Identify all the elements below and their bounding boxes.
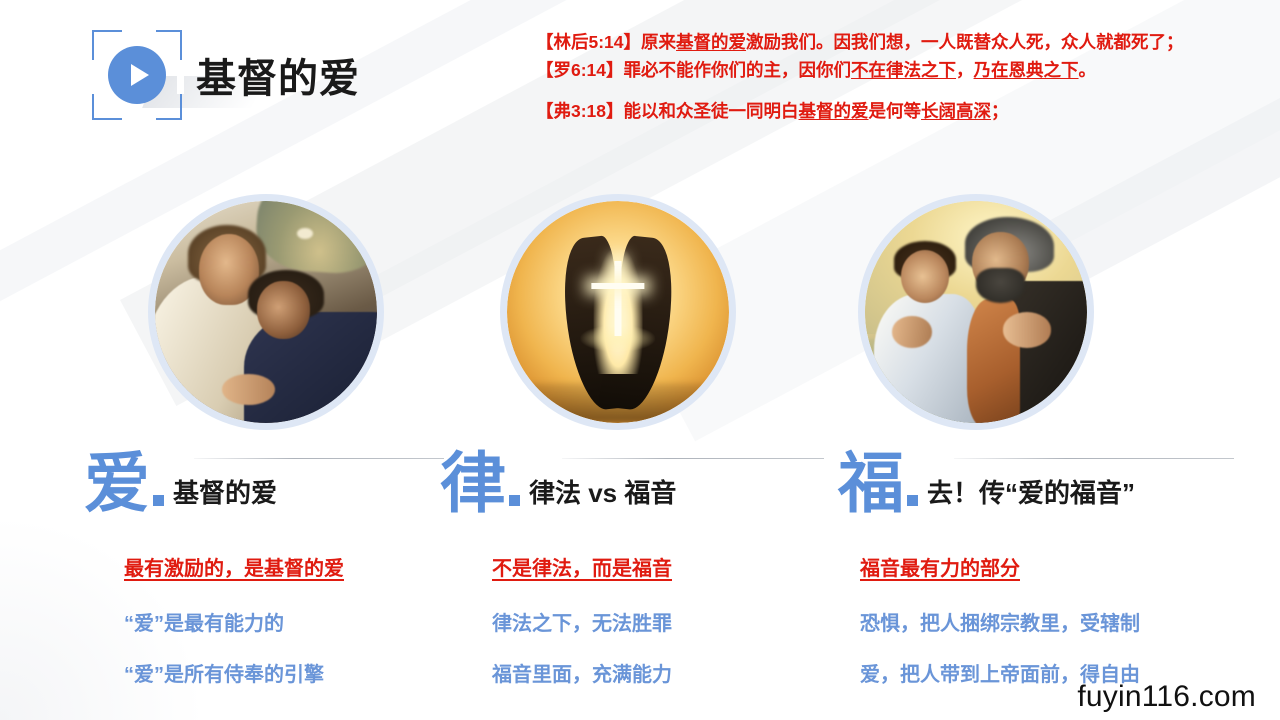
heading-row: 福 去！传“爱的福音” [838, 450, 1135, 516]
column-red-line: 不是律法，而是福音 [492, 552, 822, 581]
column-1-body: 最有激励的，是基督的爱 “爱”是最有能力的 “爱”是所有侍奉的引擎 [124, 552, 454, 709]
column-heading-label: 基督的爱 [173, 473, 277, 510]
page-title: 基督的爱 [196, 46, 360, 104]
column-heading-label: 去！传“爱的福音” [927, 473, 1135, 510]
square-bullet-icon [509, 495, 520, 506]
older-disciple-beard [976, 268, 1025, 304]
verse-emphasis: 乃在恩典之下 [974, 60, 1079, 80]
verse-emphasis: 长阔高深 [921, 101, 991, 121]
photo-content [865, 201, 1087, 423]
young-disciple-hands [892, 316, 932, 347]
verse-text: ， [956, 60, 974, 80]
heading-row: 爱 基督的爱 [84, 450, 277, 516]
column-2-body: 不是律法，而是福音 律法之下，无法胜罪 福音里面，充满能力 [492, 552, 822, 709]
logo-frame-notch [122, 28, 156, 35]
verse-emphasis: 基督的爱 [676, 32, 746, 52]
verse-text: 原来 [641, 32, 676, 52]
arch-gem [297, 228, 313, 239]
scripture-block: 【林后5:14】原来基督的爱激励我们。因我们想，一人既替众人死，众人就都死了； … [536, 28, 1280, 125]
verse-text: 。 [1079, 60, 1097, 80]
cross-horizontal-icon [591, 283, 644, 289]
column-blue-line: 恐惧，把人捆绑宗教里，受辖制 [860, 607, 1270, 636]
logo-frame-notch [122, 115, 156, 122]
site-watermark: fuyin116.com [1077, 680, 1256, 714]
scripture-verse-1: 【林后5:14】原来基督的爱激励我们。因我们想，一人既替众人死，众人就都死了； [536, 28, 1280, 56]
column-blue-line: 福音里面，充满能力 [492, 658, 822, 687]
play-button-icon [92, 30, 182, 120]
column-red-line: 最有激励的，是基督的爱 [124, 552, 454, 581]
verse-emphasis: 不在律法之下 [851, 60, 956, 80]
verse-reference: 【林后5:14】 [536, 32, 641, 52]
photo-content [155, 201, 377, 423]
column-blue-line: “爱”是最有能力的 [124, 607, 454, 636]
verse-text: 能以和众圣徒一同明白 [624, 101, 799, 121]
slide-header: 基督的爱 【林后5:14】原来基督的爱激励我们。因我们想，一人既替众人死，众人就… [0, 0, 1280, 170]
verse-emphasis: 基督的爱 [799, 101, 869, 121]
heading-row: 律 律法 vs 福音 [440, 450, 676, 516]
young-disciple-robe [874, 294, 981, 423]
column-blue-line: “爱”是所有侍奉的引擎 [124, 658, 454, 687]
arch-decor [254, 201, 377, 276]
square-bullet-icon [153, 495, 164, 506]
verse-text: 罪必不能作你们的主，因你们 [624, 60, 852, 80]
illustration-row [0, 192, 1280, 442]
column-blue-line: 律法之下，无法胜罪 [492, 607, 822, 636]
verse-text: ； [991, 101, 1009, 121]
verse-text: 激励我们。因我们想，一人既替众人死，众人就都死了； [746, 32, 1184, 52]
verse-reference: 【弗3:18】 [536, 101, 624, 121]
column-big-char: 律 [440, 450, 506, 516]
column-heading-label: 律法 vs 福音 [529, 473, 676, 510]
square-bullet-icon [907, 495, 918, 506]
play-circle [108, 46, 166, 104]
older-disciple-hands [1003, 312, 1052, 348]
two-disciples-running-photo [858, 194, 1094, 430]
verse-text: 是何等 [869, 101, 922, 121]
jesus-comforting-man-photo [148, 194, 384, 430]
column-red-line: 福音最有力的部分 [860, 552, 1270, 581]
cross-vertical-icon [615, 261, 622, 336]
scripture-verse-3: 【弗3:18】能以和众圣徒一同明白基督的爱是何等长阔高深； [536, 97, 1280, 125]
man-face [257, 281, 310, 339]
scripture-verse-2: 【罗6:14】罪必不能作你们的主，因你们不在律法之下，乃在恩典之下。 [536, 56, 1280, 84]
praying-hands-with-cross-photo [500, 194, 736, 430]
verse-reference: 【罗6:14】 [536, 60, 624, 80]
column-big-char: 爱 [84, 450, 150, 516]
play-triangle-icon [131, 64, 149, 86]
column-big-char: 福 [838, 450, 904, 516]
photo-content [507, 201, 729, 423]
jesus-hand [222, 374, 275, 405]
young-disciple-face [901, 250, 950, 303]
